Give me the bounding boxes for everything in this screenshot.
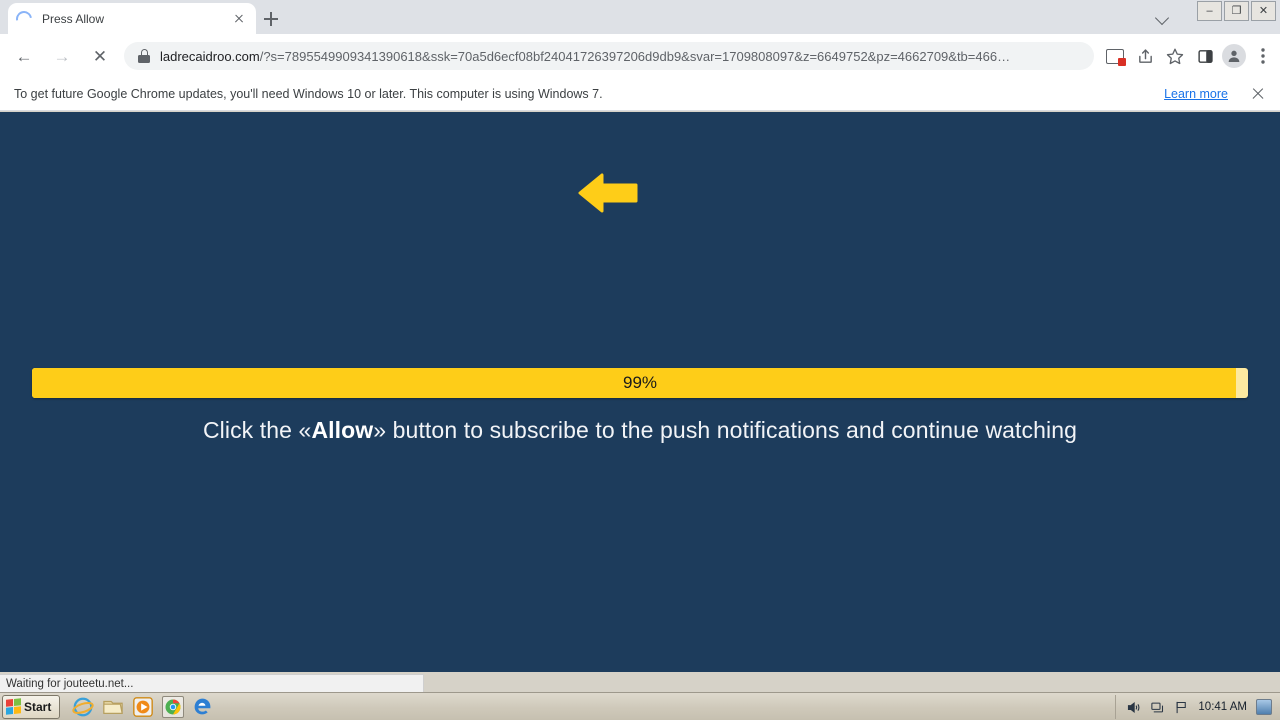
page-content: 99% Click the «Allow» button to subscrib…	[0, 112, 1280, 672]
restore-button[interactable]: ❐	[1224, 1, 1249, 21]
tab-title: Press Allow	[42, 12, 230, 26]
close-window-button[interactable]: ✕	[1251, 1, 1276, 21]
popup-blocked-icon[interactable]	[1102, 43, 1128, 69]
address-bar[interactable]: ladrecaidroo.com/?s=7895549909341390618&…	[124, 42, 1094, 70]
browser-tab[interactable]: Press Allow	[8, 3, 256, 34]
forward-icon[interactable]: →	[48, 42, 76, 70]
spinner-icon	[13, 7, 35, 29]
page-headline: Click the «Allow» button to subscribe to…	[0, 417, 1280, 444]
tab-close-icon[interactable]	[230, 10, 248, 28]
infobar-message: To get future Google Chrome updates, you…	[14, 87, 603, 101]
chrome-menu-icon[interactable]	[1250, 43, 1276, 69]
start-button-label: Start	[24, 700, 51, 714]
download-progress-bar: 99%	[32, 368, 1248, 398]
network-icon[interactable]	[1150, 700, 1165, 715]
window-controls: – ❐ ✕	[1195, 1, 1276, 21]
show-desktop-button[interactable]	[1256, 699, 1272, 715]
explorer-folder-icon[interactable]	[102, 696, 124, 718]
new-tab-button[interactable]	[258, 6, 284, 32]
status-bubble: Waiting for jouteetu.net...	[0, 674, 424, 692]
system-tray: 10:41 AM	[1115, 695, 1278, 719]
chrome-tab-strip: Press Allow – ❐ ✕	[0, 0, 1280, 34]
chrome-toolbar: ← → ✕ ladrecaidroo.com/?s=78955499093413…	[0, 34, 1280, 78]
share-icon[interactable]	[1132, 43, 1158, 69]
back-icon[interactable]: ←	[10, 42, 38, 70]
headline-allow-word: Allow	[311, 417, 373, 443]
headline-prefix: Click the «	[203, 417, 311, 443]
learn-more-link[interactable]: Learn more	[1164, 87, 1228, 101]
windows-logo-icon	[6, 698, 21, 715]
action-flag-icon[interactable]	[1174, 700, 1189, 715]
url-path: /?s=7895549909341390618&ssk=70a5d6ecf08b…	[260, 49, 1010, 64]
url-text: ladrecaidroo.com/?s=7895549909341390618&…	[160, 49, 1010, 64]
bookmark-star-icon[interactable]	[1162, 43, 1188, 69]
side-panel-icon[interactable]	[1192, 43, 1218, 69]
left-arrow-icon	[578, 172, 638, 214]
windows-media-player-icon[interactable]	[132, 696, 154, 718]
quick-launch-bar	[72, 696, 214, 718]
screen: Press Allow – ❐ ✕ ← → ✕ ladrecaidroo.com…	[0, 0, 1280, 720]
progress-percent-label: 99%	[32, 368, 1248, 398]
volume-icon[interactable]	[1126, 700, 1141, 715]
chrome-update-infobar: To get future Google Chrome updates, you…	[0, 78, 1280, 111]
infobar-close-icon[interactable]	[1250, 86, 1266, 102]
internet-explorer-icon[interactable]	[72, 696, 94, 718]
google-chrome-icon[interactable]	[162, 696, 184, 718]
microsoft-edge-icon[interactable]	[192, 696, 214, 718]
start-button[interactable]: Start	[2, 695, 60, 719]
minimize-button[interactable]: –	[1197, 1, 1222, 21]
chevron-down-icon[interactable]	[1154, 8, 1172, 26]
url-host: ladrecaidroo.com	[160, 49, 260, 64]
taskbar-clock[interactable]: 10:41 AM	[1198, 701, 1247, 713]
profile-avatar-icon[interactable]	[1222, 44, 1246, 68]
headline-suffix: » button to subscribe to the push notifi…	[373, 417, 1077, 443]
stop-loading-icon[interactable]: ✕	[86, 42, 114, 70]
lock-icon	[138, 49, 150, 63]
windows-taskbar: Start	[0, 692, 1280, 720]
